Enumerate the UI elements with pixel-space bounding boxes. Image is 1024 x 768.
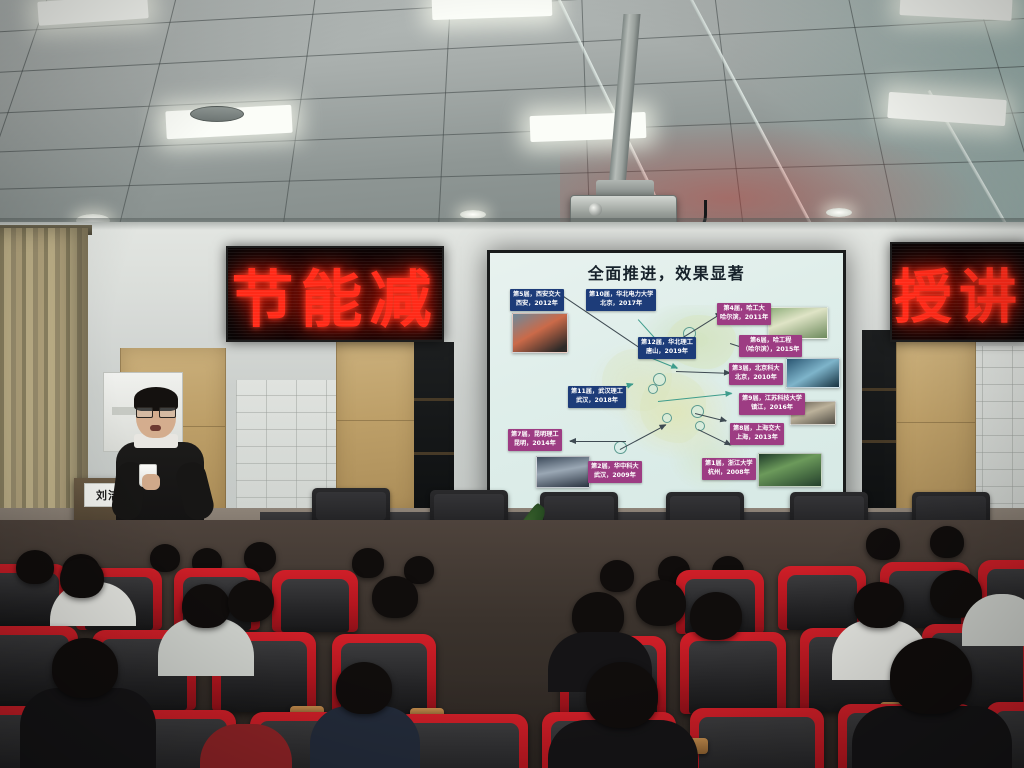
slide-tag-5: 第5届，西安交大 西安，2012年	[510, 289, 564, 311]
audience-seat	[778, 566, 866, 630]
audience-head	[182, 584, 230, 628]
audience-seat	[690, 708, 824, 768]
speaker-mouth	[150, 425, 161, 431]
slide-title: 全面推进，效果显著	[490, 260, 843, 284]
audience-shoulders	[852, 706, 1012, 768]
slide-tag-line1: 第6届，哈工程	[750, 337, 791, 344]
ceiling-vent	[190, 106, 244, 122]
soffit-shadow	[0, 218, 1024, 230]
slide-tag-line1: 第10届，华北电力大学	[589, 291, 653, 298]
slide-tag-line1: 第7届，昆明理工	[511, 431, 559, 438]
slide-tag-line1: 第3届，北京科大	[732, 365, 780, 372]
slide-tag-10: 第10届，华北电力大学 北京，2017年	[586, 289, 656, 311]
slide-tag-11: 第11届，武汉理工 武汉，2018年	[568, 386, 626, 408]
slide-tag-line1: 第8届，上海交大	[733, 425, 781, 432]
presentation-slide: 全面推进，效果显著	[490, 253, 843, 515]
slide-tag-line2: 北京，2010年	[732, 374, 780, 383]
slide-tag-3: 第3届，北京科大 北京，2010年	[729, 363, 783, 385]
slide-tag-2: 第2届，华中科大 武汉，2009年	[588, 461, 642, 483]
projection-screen: 全面推进，效果显著	[487, 250, 846, 518]
wall-wood-panel	[336, 342, 416, 512]
audience-head	[372, 576, 418, 618]
slide-tag-line1: 第1届，浙江大学	[705, 460, 753, 467]
slide-photo	[512, 313, 568, 353]
slide-tag-line1: 第9届，江苏科技大学	[742, 395, 802, 402]
slide-photo	[758, 453, 822, 487]
slide-tag-line2: 哈尔滨，2011年	[720, 314, 768, 323]
slide-tag-12: 第12届，华北理工 唐山，2019年	[638, 337, 696, 359]
slide-tag-1: 第1届，浙江大学 杭州，2008年	[702, 458, 756, 480]
audience-shoulders	[310, 706, 420, 768]
audience-head	[690, 592, 742, 640]
slide-tag-line2: 杭州，2008年	[705, 469, 753, 478]
audience-seat	[272, 570, 358, 632]
slide-tag-line1: 第11届，武汉理工	[571, 388, 623, 395]
audience-head	[336, 662, 392, 714]
audience-area	[0, 520, 1024, 768]
slide-photo	[786, 358, 840, 388]
led-banner-right-text: 授讲	[894, 250, 1024, 334]
speaker-person	[108, 390, 212, 540]
slide-tag-line2: 西安，2012年	[513, 300, 561, 309]
slide-tag-4: 第4届，哈工大 哈尔滨，2011年	[717, 303, 771, 325]
ceiling-panel-light	[432, 0, 553, 20]
slide-tag-line2: 上海，2013年	[733, 434, 781, 443]
slide-tag-line2: 镇江，2016年	[742, 404, 802, 413]
led-banner-left: 节能减	[226, 246, 444, 342]
slide-tag-line2: 武汉，2009年	[591, 472, 639, 481]
ceiling	[0, 0, 1024, 240]
slide-tag-line2: 北京，2017年	[589, 300, 653, 309]
slide-tag-line1: 第12届，华北理工	[641, 339, 693, 346]
wall-recess-left	[414, 342, 454, 514]
slide-tag-7: 第7届，昆明理工 昆明，2014年	[508, 429, 562, 451]
ceiling-panel-light	[37, 0, 148, 26]
audience-head	[586, 662, 658, 728]
slide-tag-line2: （哈尔滨），2015年	[742, 346, 799, 355]
audience-head	[228, 580, 274, 622]
slide-tag-9: 第9届，江苏科技大学 镇江，2016年	[739, 393, 805, 415]
audience-shoulders	[20, 688, 156, 768]
slide-tag-line2: 昆明，2014年	[511, 440, 559, 449]
audience-head	[890, 638, 972, 714]
speaker-hand	[142, 474, 160, 490]
projector-lens	[589, 203, 602, 216]
lecture-hall-photo: 节能减 授讲 全面推进，效果显著	[0, 0, 1024, 768]
ceiling-downlight	[826, 208, 852, 217]
audience-head	[854, 582, 904, 628]
slide-tag-line2: 唐山，2019年	[641, 348, 693, 357]
audience-head	[600, 560, 634, 592]
audience-head	[866, 528, 900, 560]
audience-head	[930, 526, 964, 558]
slide-photo	[536, 456, 590, 488]
audience-head	[150, 544, 180, 572]
slide-tag-8: 第8届，上海交大 上海，2013年	[730, 423, 784, 445]
led-banner-left-text: 节能减	[231, 249, 438, 339]
slide-tag-line1: 第5届，西安交大	[513, 291, 561, 298]
glasses-icon	[136, 407, 176, 416]
audience-head	[52, 638, 118, 698]
audience-seat	[680, 632, 786, 714]
slide-tag-line2: 武汉，2018年	[571, 397, 623, 406]
audience-head	[16, 550, 54, 584]
map-node-wuhan	[648, 384, 658, 394]
slide-tag-line1: 第2届，华中科大	[591, 463, 639, 470]
audience-head	[636, 580, 686, 626]
slide-tag-6: 第6届，哈工程 （哈尔滨），2015年	[739, 335, 802, 357]
slide-tag-line1: 第4届，哈工大	[723, 305, 764, 312]
led-banner-right: 授讲	[890, 242, 1024, 342]
audience-head	[352, 548, 384, 578]
audience-head	[60, 558, 104, 598]
